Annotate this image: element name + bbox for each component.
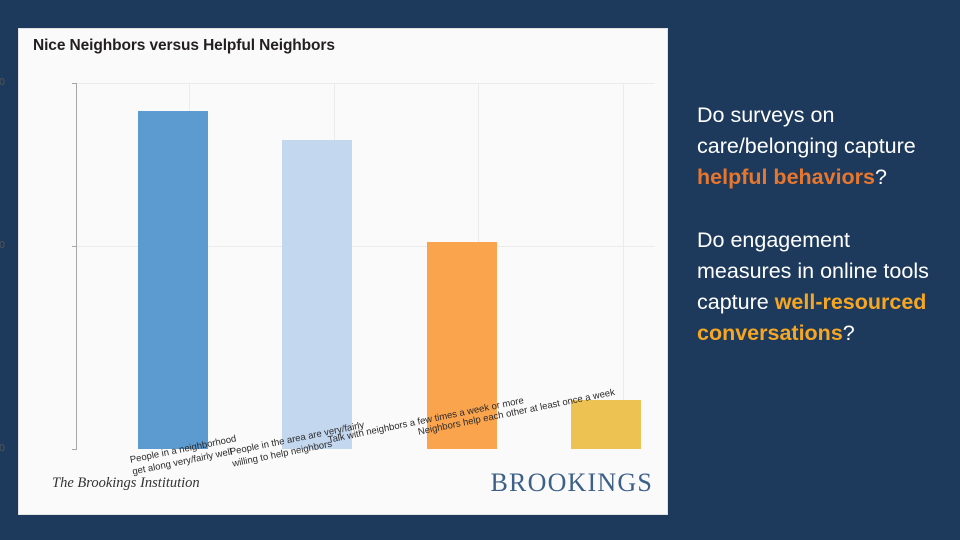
gridline-vertical bbox=[623, 83, 624, 449]
chart-card: Nice Neighbors versus Helpful Neighbors … bbox=[18, 28, 668, 515]
highlight-helpful-behaviors: helpful behaviors bbox=[697, 165, 875, 189]
y-tick-label: 0 bbox=[0, 442, 5, 454]
question-text: ? bbox=[875, 165, 887, 189]
institution-label: The Brookings Institution bbox=[52, 475, 200, 492]
y-tick-mark bbox=[72, 449, 76, 450]
question-text: Do surveys on care/belonging capture bbox=[697, 103, 916, 158]
brookings-logo: BROOKINGS bbox=[491, 468, 653, 498]
y-tick-mark bbox=[72, 246, 76, 247]
slide-canvas: Nice Neighbors versus Helpful Neighbors … bbox=[0, 0, 960, 540]
y-tick-label: 90 bbox=[0, 76, 5, 88]
gridline-horizontal bbox=[77, 83, 655, 84]
plot-area bbox=[77, 83, 655, 449]
bar[interactable] bbox=[282, 140, 352, 449]
question-text: ? bbox=[843, 321, 855, 345]
question-text-panel: Do surveys on care/belonging capture hel… bbox=[697, 100, 942, 381]
y-tick-mark bbox=[72, 83, 76, 84]
question-1: Do surveys on care/belonging capture hel… bbox=[697, 100, 942, 193]
question-2: Do engagement measures in online tools c… bbox=[697, 225, 942, 349]
y-tick-label: 50 bbox=[0, 239, 5, 251]
bar[interactable] bbox=[571, 400, 641, 449]
chart-title: Nice Neighbors versus Helpful Neighbors bbox=[33, 37, 335, 55]
bar[interactable] bbox=[138, 111, 208, 449]
